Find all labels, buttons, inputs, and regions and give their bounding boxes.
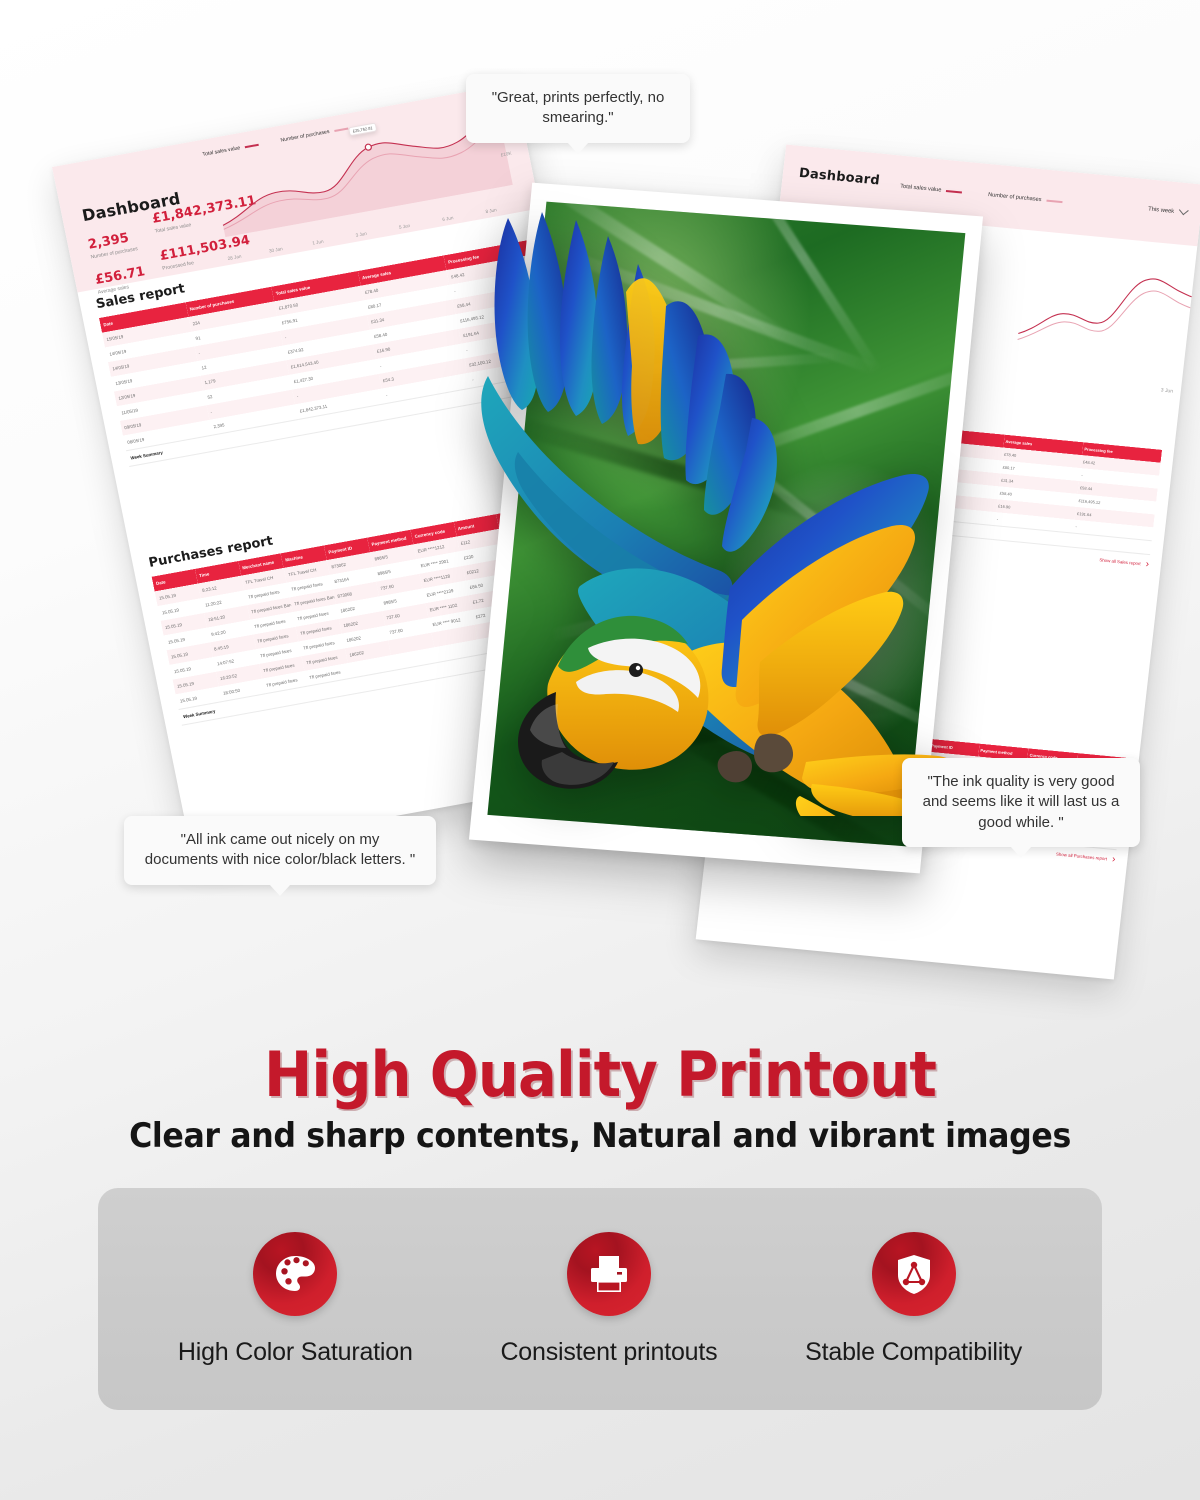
range-selector-dropdown[interactable]: This week (1148, 205, 1188, 216)
page-headline: High Quality Printout (42, 1038, 1158, 1111)
feature-high-color-saturation: High Color Saturation (178, 1232, 413, 1367)
feature-label: Consistent printouts (500, 1338, 717, 1367)
printer-icon (586, 1251, 632, 1297)
chart-xtick-2: 1 Jun (312, 239, 324, 246)
chart-legend: Total sales value Number of purchases (900, 184, 1063, 206)
testimonial-bubble-right: "The ink quality is very good and seems … (902, 758, 1140, 847)
feature-icon-badge (567, 1232, 651, 1316)
range-selector-label: This week (1148, 206, 1175, 214)
feature-icon-badge (253, 1232, 337, 1316)
dashboard-title: Dashboard (798, 166, 880, 189)
metric-number-of-purchases: 2,395 Number of purchases (87, 229, 139, 260)
feature-stable-compatibility: Stable Compatibility (805, 1232, 1022, 1367)
testimonial-bubble-left: "All ink came out nicely on my documents… (124, 816, 436, 885)
chart-xtick-6: 8 Jun (485, 207, 497, 214)
feature-label: High Color Saturation (178, 1338, 413, 1367)
chart-line-total-sales (1018, 260, 1200, 352)
chart-xtick-3: 3 Jun (355, 231, 367, 238)
chart-xtick-1: 30 Jan (269, 246, 284, 253)
legend-item-number-purchases: Number of purchases (988, 192, 1063, 205)
shield-icon (891, 1251, 937, 1297)
chart-xtick-4: 5 Jun (398, 223, 410, 230)
legend-item-total-sales: Total sales value (900, 184, 963, 196)
chevron-down-icon (1179, 205, 1189, 215)
show-all-label: Show all Purchases report (1056, 851, 1108, 861)
legend-label: Total sales value (900, 184, 942, 194)
jungle-photo-image (487, 202, 965, 847)
feature-label: Stable Compatibility (805, 1338, 1022, 1367)
chevron-right-icon: › (1111, 854, 1116, 865)
legend-swatch (946, 190, 962, 194)
sales-trend-chart: £30K £20K £10K 3 Jun (1011, 230, 1200, 398)
feature-consistent-printouts: Consistent printouts (500, 1232, 717, 1367)
chart-xtick-5: 6 Jun (442, 215, 454, 222)
legend-label: Number of purchases (988, 192, 1042, 203)
show-all-label: Show all Sales report (1099, 557, 1141, 566)
feature-icon-badge (872, 1232, 956, 1316)
chart-svg (1015, 230, 1200, 368)
chart-xtick-0: 28 Jan (227, 254, 242, 261)
legend-swatch (1046, 200, 1062, 204)
features-panel: High Color Saturation Consistent printou… (98, 1188, 1102, 1410)
chart-xtick-3: 3 Jun (1160, 387, 1173, 394)
chart-point-marker (365, 144, 372, 151)
chart-line-number-purchases (1018, 274, 1200, 358)
palette-icon (272, 1251, 318, 1297)
page-subheadline: Clear and sharp contents, Natural and vi… (42, 1116, 1158, 1156)
testimonial-bubble-top: "Great, prints perfectly, no smearing." (466, 74, 690, 143)
hero-section: Dashboard Total sales value Number of pu… (0, 0, 1200, 1020)
chevron-right-icon: › (1145, 559, 1150, 570)
